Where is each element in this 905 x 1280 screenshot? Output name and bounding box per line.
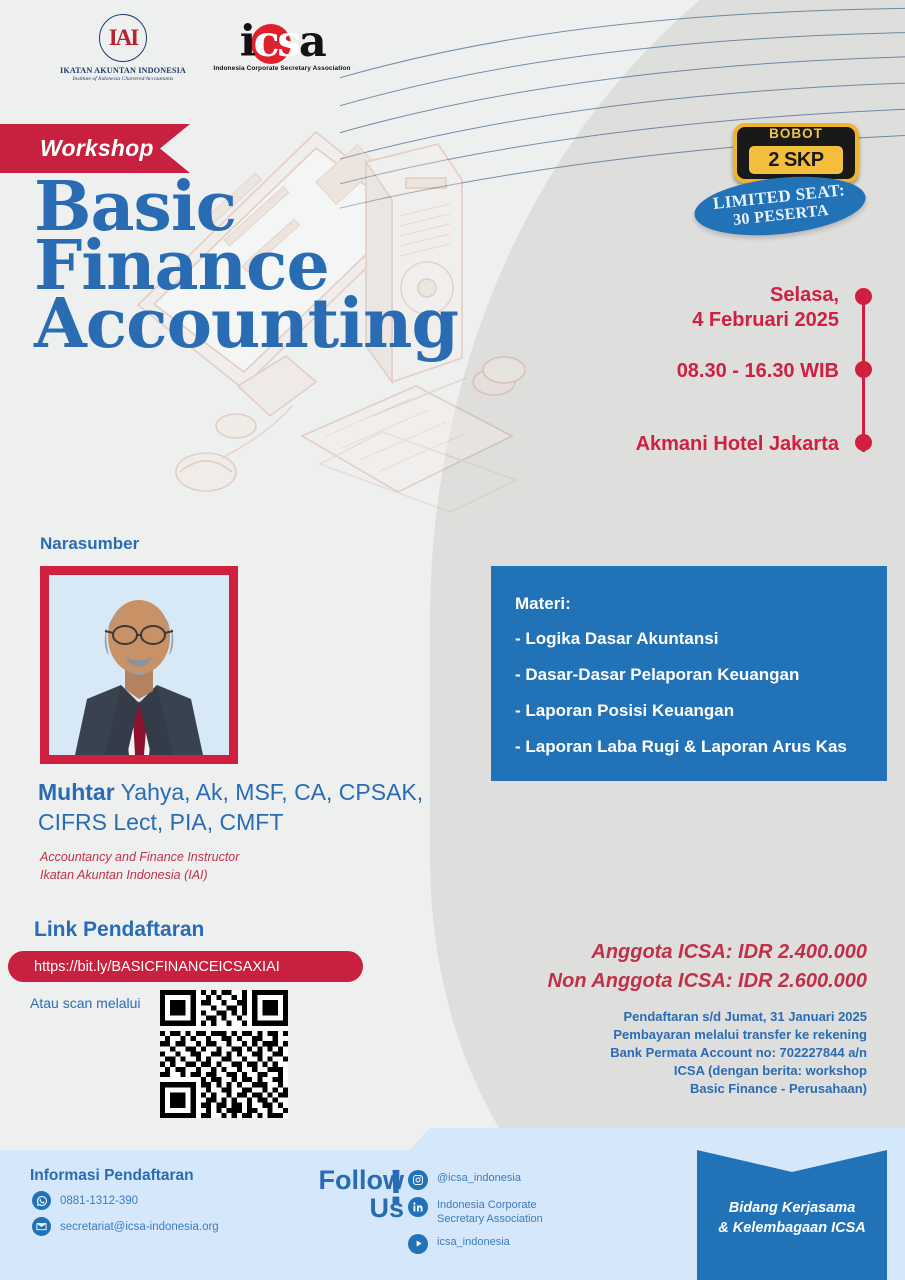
registration-label: Link Pendaftaran [34, 918, 204, 942]
payment-note-line-4: ICSA (dengan berita: workshop [527, 1062, 867, 1080]
contact-section-title: Informasi Pendaftaran [30, 1167, 194, 1185]
follow-us-label: Follow Us ! [292, 1167, 404, 1222]
contact-whatsapp[interactable]: 0881-1312-390 [32, 1191, 138, 1210]
timeline-dot-venue [855, 434, 872, 451]
icsa-letter-a: a [299, 17, 324, 67]
materi-box: Materi: - Logika Dasar Akuntansi - Dasar… [491, 566, 887, 781]
event-date-line-2: 4 Februari 2025 [692, 308, 839, 333]
materi-item: - Laporan Laba Rugi & Laporan Arus Kas [515, 737, 863, 757]
payment-note: Pendaftaran s/d Jumat, 31 Januari 2025 P… [527, 1008, 867, 1098]
timeline-dot-time [855, 361, 872, 378]
envelope-icon [32, 1217, 51, 1236]
payment-note-line-1: Pendaftaran s/d Jumat, 31 Januari 2025 [527, 1008, 867, 1026]
payment-note-line-3: Bank Permata Account no: 702227844 a/n [527, 1044, 867, 1062]
youtube-handle: icsa_indonesia [437, 1234, 510, 1250]
social-linkedin[interactable]: Indonesia Corporate Secretary Associatio… [408, 1197, 628, 1227]
workshop-ribbon-label: Workshop [0, 135, 154, 162]
speaker-role-line-2: Ikatan Akuntan Indonesia (IAI) [40, 866, 440, 884]
materi-item: - Logika Dasar Akuntansi [515, 629, 863, 649]
speaker-role-line-1: Accountancy and Finance Instructor [40, 848, 440, 866]
payment-note-line-5: Basic Finance - Perusahaan) [527, 1080, 867, 1098]
speaker-role: Accountancy and Finance Instructor Ikata… [40, 848, 440, 884]
iai-logo-name: IKATAN AKUNTAN INDONESIA [58, 66, 188, 75]
speaker-photo-frame [40, 566, 238, 764]
youtube-icon [408, 1234, 428, 1254]
icsa-letter-i: i [240, 17, 254, 67]
organizer-line-1: Bidang Kerjasama [729, 1200, 856, 1216]
event-details-timeline: Selasa, 4 Februari 2025 08.30 - 16.30 WI… [583, 283, 883, 465]
pricing-block: Anggota ICSA: IDR 2.400.000 Non Anggota … [447, 938, 867, 996]
whatsapp-icon [32, 1191, 51, 1210]
materi-heading: Materi: [515, 594, 863, 614]
linkedin-handle: Indonesia Corporate Secretary Associatio… [437, 1197, 543, 1227]
price-member: Anggota ICSA: IDR 2.400.000 [447, 938, 867, 967]
skp-bobot-label: BOBOT [733, 126, 859, 141]
event-time-label: 08.30 - 16.30 WIB [677, 359, 839, 384]
social-links: @icsa_indonesia Indonesia Corporate Secr… [408, 1170, 628, 1261]
iai-logo: IAI IKATAN AKUNTAN INDONESIA Institute o… [58, 14, 188, 82]
icsa-logo: icsa Indonesia Corporate Secretary Assoc… [212, 16, 352, 72]
logo-bar: IAI IKATAN AKUNTAN INDONESIA Institute o… [40, 12, 350, 94]
event-time: 08.30 - 16.30 WIB [677, 359, 839, 384]
price-non-member: Non Anggota ICSA: IDR 2.600.000 [447, 967, 867, 996]
icsa-letters-cs: cs [254, 17, 299, 67]
scan-instruction: Atau scan melalui [30, 995, 141, 1011]
event-date: Selasa, 4 Februari 2025 [692, 283, 839, 333]
exclamation-mark-icon: ! [388, 1169, 404, 1207]
registration-qr-code[interactable] [160, 990, 288, 1118]
instagram-handle: @icsa_indonesia [437, 1170, 521, 1186]
registration-url: https://bit.ly/BASICFINANCEICSAXIAI [34, 959, 280, 975]
social-instagram[interactable]: @icsa_indonesia [408, 1170, 628, 1190]
event-venue: Akmani Hotel Jakarta [636, 432, 839, 457]
linkedin-icon [408, 1197, 428, 1217]
skp-value: 2 SKP [747, 144, 845, 176]
skp-credit-badge: BOBOT 2 SKP [733, 123, 859, 183]
speaker-name: Muhtar Yahya, Ak, MSF, CA, CPSAK, CIFRS … [38, 778, 468, 838]
iai-monogram-text: IAI [109, 25, 138, 51]
speaker-first-name: Muhtar [38, 779, 115, 805]
poster-root: IAI IKATAN AKUNTAN INDONESIA Institute o… [0, 0, 905, 1280]
event-venue-label: Akmani Hotel Jakarta [636, 432, 839, 457]
email-address: secretariat@icsa-indonesia.org [60, 1221, 219, 1233]
registration-link-button[interactable]: https://bit.ly/BASICFINANCEICSAXIAI [8, 951, 363, 982]
event-date-line-1: Selasa, [692, 283, 839, 308]
page-title: Basic Finance Accounting [34, 175, 464, 351]
iai-logo-tagline: Institute of Indonesia Chartered Account… [58, 76, 188, 82]
icsa-wordmark: icsa [212, 16, 352, 68]
iai-monogram-icon: IAI [99, 14, 147, 62]
title-line-3: Accounting [34, 292, 464, 357]
icsa-wordmark-text: icsa [212, 16, 352, 68]
social-youtube[interactable]: icsa_indonesia [408, 1234, 628, 1254]
materi-item: - Laporan Posisi Keuangan [515, 701, 863, 721]
materi-item: - Dasar-Dasar Pelaporan Keuangan [515, 665, 863, 685]
materi-list: - Logika Dasar Akuntansi - Dasar-Dasar P… [515, 629, 863, 757]
speaker-section-label: Narasumber [40, 534, 139, 554]
instagram-icon [408, 1170, 428, 1190]
timeline-dot-date [855, 288, 872, 305]
organizer-line-2: & Kelembagaan ICSA [718, 1220, 865, 1236]
whatsapp-number: 0881-1312-390 [60, 1195, 138, 1207]
contact-email[interactable]: secretariat@icsa-indonesia.org [32, 1217, 219, 1236]
organizer-name: Bidang Kerjasama& Kelembagaan ICSA [718, 1198, 865, 1239]
speaker-photo [49, 575, 229, 755]
payment-note-line-2: Pembayaran melalui transfer ke rekening [527, 1026, 867, 1044]
